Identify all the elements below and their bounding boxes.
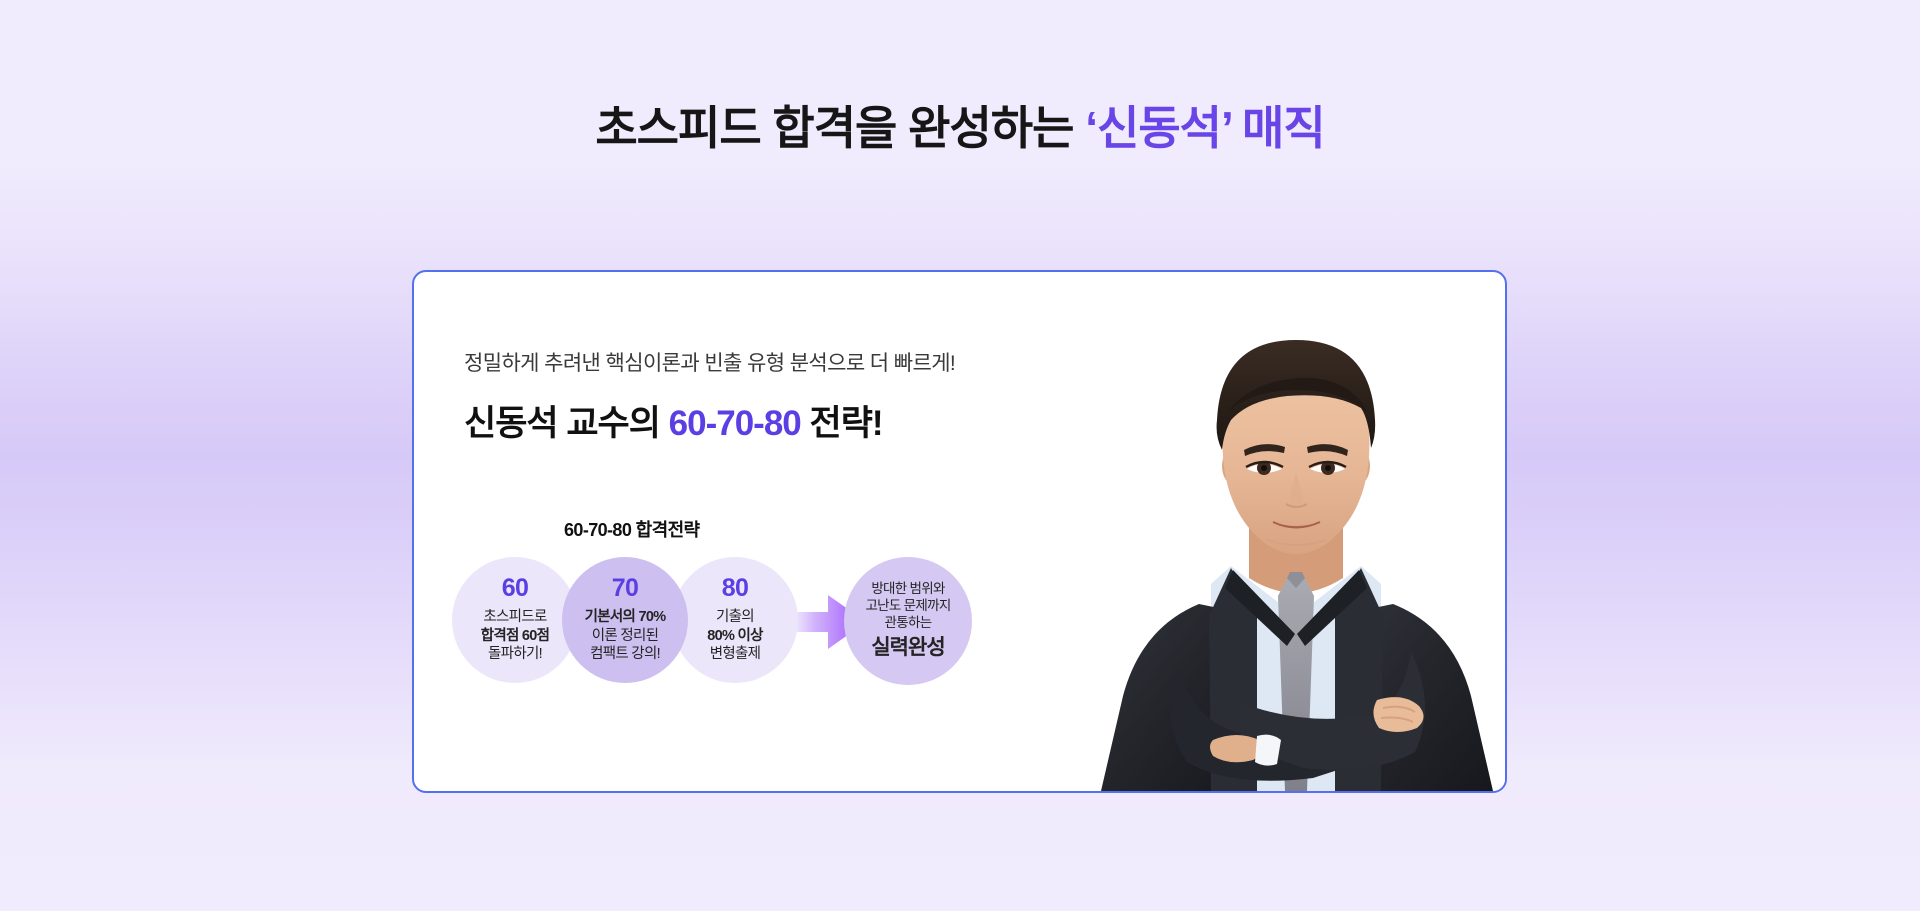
bubble-80-number: 80 (722, 576, 748, 601)
bubble-70-line-2: 이론 정리된 (592, 627, 659, 646)
bubble-80-line-2: 80% 이상 (707, 627, 763, 646)
bubble-60: 60 초스피드로 합격점 60점 돌파하기! (452, 557, 578, 683)
strategy-diagram: 60 초스피드로 합격점 60점 돌파하기! 70 기본서의 70% 이론 정리… (452, 557, 1012, 697)
page-title: 초스피드 합격을 완성하는 ‘신동석’ 매직 (0, 92, 1920, 158)
bubble-60-line-3: 돌파하기! (488, 645, 542, 664)
card-title-suffix: 전략! (801, 404, 883, 443)
bubble-70: 70 기본서의 70% 이론 정리된 컴팩트 강의! (562, 557, 688, 683)
card-title-prefix: 신동석 교수의 (464, 404, 669, 443)
bubble-result-strong: 실력완성 (871, 635, 944, 662)
bubble-60-number: 60 (502, 576, 528, 601)
bubble-result-line-1: 방대한 범위와 (871, 580, 944, 597)
page-title-prefix: 초스피드 합격을 완성하는 (595, 102, 1085, 154)
bubble-80: 80 기출의 80% 이상 변형출제 (672, 557, 798, 683)
card-title-accent: 60-70-80 (669, 404, 801, 443)
bubble-70-line-3: 컴팩트 강의! (590, 645, 660, 664)
bubble-60-line-2: 합격점 60점 (481, 627, 550, 646)
bubble-80-line-1: 기출의 (716, 608, 754, 627)
bubble-80-line-3: 변형출제 (710, 645, 761, 664)
bubble-result-line-2: 고난도 문제까지 (865, 597, 950, 614)
bubble-70-number: 70 (612, 576, 638, 601)
bubble-result: 방대한 범위와 고난도 문제까지 관통하는 실력완성 (844, 557, 972, 685)
bubble-60-line-1: 초스피드로 (483, 608, 546, 627)
diagram-label: 60-70-80 합격전략 (564, 516, 700, 542)
card-lead-text: 정밀하게 추려낸 핵심이론과 빈출 유형 분석으로 더 빠르게! (464, 347, 955, 377)
card-title: 신동석 교수의 60-70-80 전략! (464, 395, 883, 446)
bubble-70-line-1: 기본서의 70% (585, 608, 666, 627)
bubble-result-line-3: 관통하는 (885, 614, 932, 631)
page-title-accent: ‘신동석’ 매직 (1085, 102, 1324, 154)
instructor-portrait (1081, 316, 1507, 791)
promo-card: 정밀하게 추려낸 핵심이론과 빈출 유형 분석으로 더 빠르게! 신동석 교수의… (412, 270, 1507, 793)
